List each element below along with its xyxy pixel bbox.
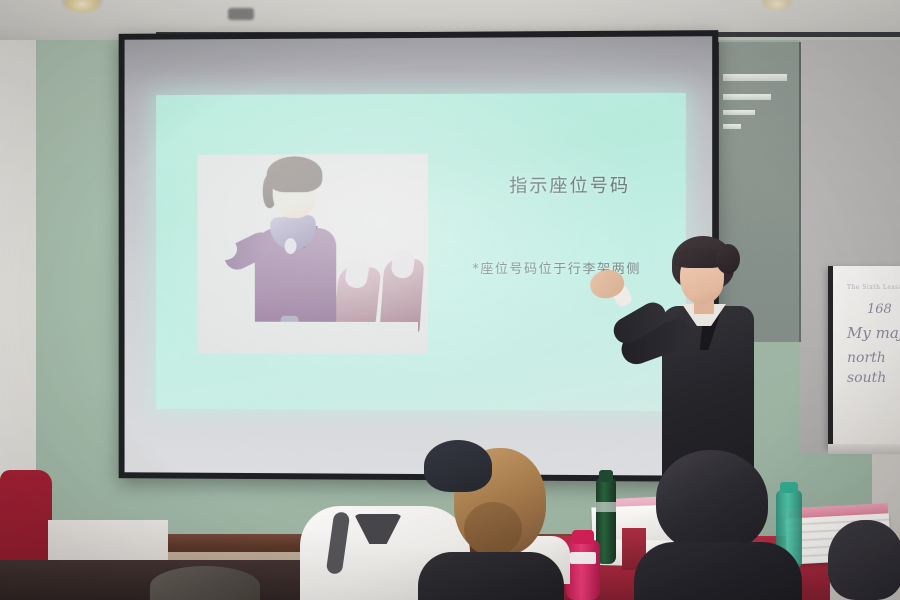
student-dark-hair-head [656, 450, 768, 552]
whiteboard-tray [828, 444, 900, 454]
student-hair-bun [464, 502, 522, 556]
frosted-stripe-decal-2 [723, 94, 771, 100]
student-front-left [150, 566, 260, 600]
student-bun-shoulders [418, 552, 564, 600]
pink-bottle-label [570, 552, 596, 564]
whiteboard-line-2: 168 [867, 302, 892, 317]
pink-bottle-cap [572, 530, 594, 544]
frosted-stripe-decal-3 [723, 110, 755, 115]
classroom-photo: 指示座位号码 *座位号码位于行李架两侧 The Sixth Lesson 168… [0, 0, 900, 600]
slide-photo-flight-attendant [197, 154, 428, 354]
slide-title: 指示座位号码 [454, 171, 686, 198]
slide-photo-counter [207, 322, 418, 340]
student-dark-hair-shoulders [634, 542, 802, 600]
slide-photo-hair [267, 156, 323, 192]
projected-slide: 指示座位号码 *座位号码位于行李架两侧 [156, 93, 686, 411]
student-far-right [828, 520, 900, 600]
pink-water-bottle [566, 540, 600, 600]
student-bun-hair [410, 440, 560, 600]
slide-photo-hand [213, 238, 237, 260]
student-dark-cap [424, 440, 492, 492]
frosted-stripe-decal-4 [723, 124, 741, 129]
whiteboard-line-3: My maj [847, 324, 900, 342]
frosted-stripe-decal-1 [723, 74, 787, 81]
wall-left-pillar [0, 26, 40, 526]
whiteboard-line-1: The Sixth Lesson [847, 284, 900, 291]
presenter [612, 236, 762, 476]
whiteboard-line-4: north [847, 350, 886, 366]
green-bottle-cap [599, 470, 613, 482]
ceiling-vent-icon [228, 8, 254, 20]
slide-photo-scarf-knot [285, 238, 297, 254]
whiteboard: The Sixth Lesson 168 My maj north south [828, 266, 900, 448]
presenter-hair-bun [716, 244, 740, 274]
student-front-left-head [150, 566, 260, 600]
student-far-right-head [828, 520, 900, 600]
green-bottle-label [596, 502, 616, 512]
whiteboard-line-5: south [847, 370, 886, 386]
student-dark-hair [656, 450, 786, 600]
